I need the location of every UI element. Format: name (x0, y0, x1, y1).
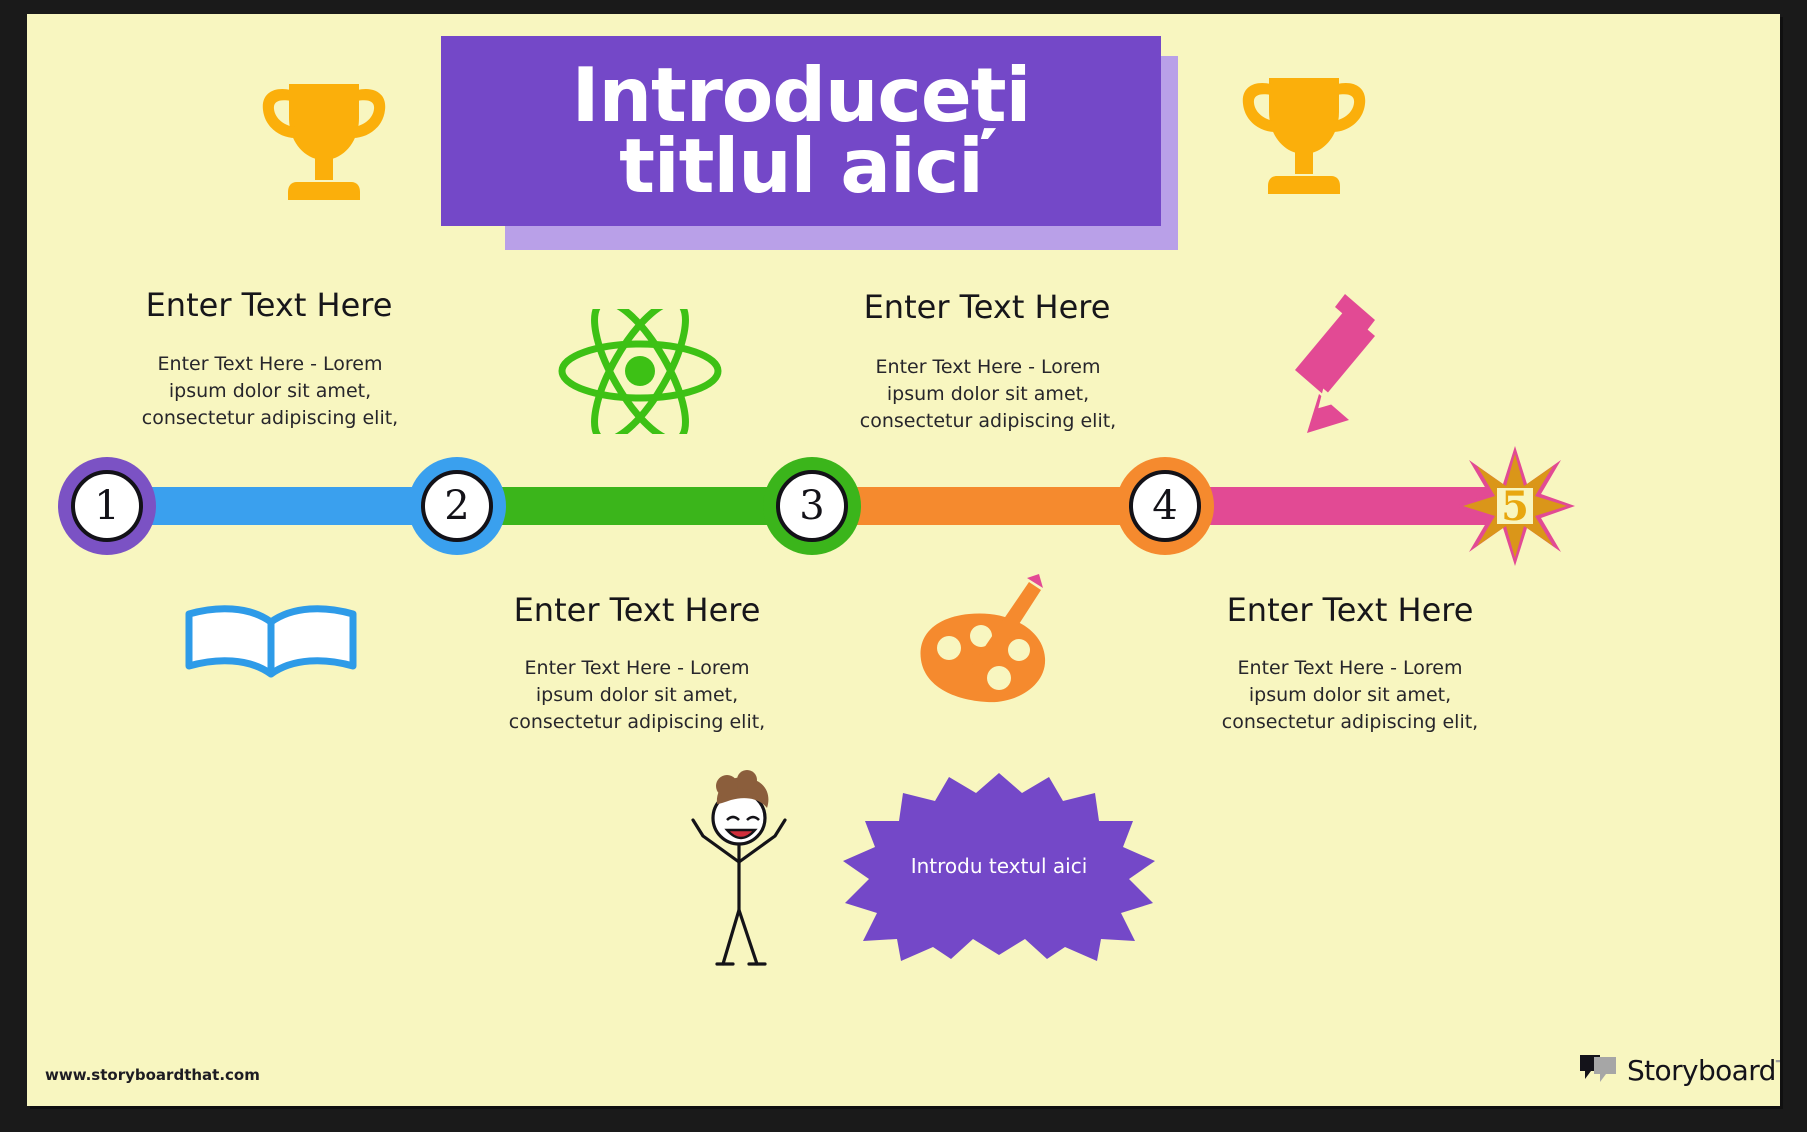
book-icon (179, 602, 364, 691)
timeline-node-2[interactable]: 2 (408, 457, 506, 555)
trophy-icon-left (259, 72, 389, 216)
page-title: Introduceți titlul aici (562, 60, 1041, 203)
timeline-node-5-number: 5 (1453, 444, 1577, 568)
timeline-node-3[interactable]: 3 (763, 457, 861, 555)
callout-starburst[interactable]: Introdu textul aici (839, 771, 1159, 961)
step-2-body: Enter Text Here - Lorem ipsum dolor sit … (502, 655, 772, 736)
logo-word-that: That (1776, 1054, 1780, 1087)
timeline-node-2-number: 2 (421, 470, 493, 542)
cheering-student-character (687, 770, 797, 974)
step-3-heading: Enter Text Here (807, 288, 1167, 326)
timeline-node-1[interactable]: 1 (58, 457, 156, 555)
timeline-node-5[interactable]: 5 (1453, 444, 1577, 568)
callout-text: Introdu textul aici (839, 771, 1159, 961)
step-2-heading: Enter Text Here (457, 591, 817, 629)
atom-icon (555, 309, 725, 438)
poster-frame: Introduceți titlul aici 1 2 3 4 5 Enter … (0, 0, 1807, 1132)
timeline-segment-1 (107, 487, 457, 525)
footer-url[interactable]: www.storyboardthat.com (45, 1066, 260, 1084)
pencil-icon (1289, 292, 1379, 441)
step-1-heading: Enter Text Here (89, 286, 449, 324)
step-3-body: Enter Text Here - Lorem ipsum dolor sit … (853, 354, 1123, 435)
logo-word-storyboard: Storyboard (1627, 1054, 1776, 1087)
timeline-node-3-number: 3 (776, 470, 848, 542)
step-4-body: Enter Text Here - Lorem ipsum dolor sit … (1215, 655, 1485, 736)
infographic-canvas: Introduceți titlul aici 1 2 3 4 5 Enter … (27, 14, 1780, 1106)
timeline-node-1-number: 1 (71, 470, 143, 542)
step-1-body: Enter Text Here - Lorem ipsum dolor sit … (135, 351, 405, 432)
trophy-icon-right (1239, 66, 1369, 210)
storyboardthat-logo[interactable]: StoryboardThat (1578, 1052, 1780, 1088)
logo-wordmark: StoryboardThat (1627, 1054, 1780, 1087)
timeline-segment-2 (457, 487, 812, 525)
speech-bubble-icon (1578, 1052, 1618, 1088)
paint-palette-icon (903, 574, 1063, 728)
title-box[interactable]: Introduceți titlul aici (441, 36, 1161, 226)
timeline-node-4[interactable]: 4 (1116, 457, 1214, 555)
timeline-segment-3 (812, 487, 1165, 525)
step-4-heading: Enter Text Here (1170, 591, 1530, 629)
timeline-node-4-number: 4 (1129, 470, 1201, 542)
